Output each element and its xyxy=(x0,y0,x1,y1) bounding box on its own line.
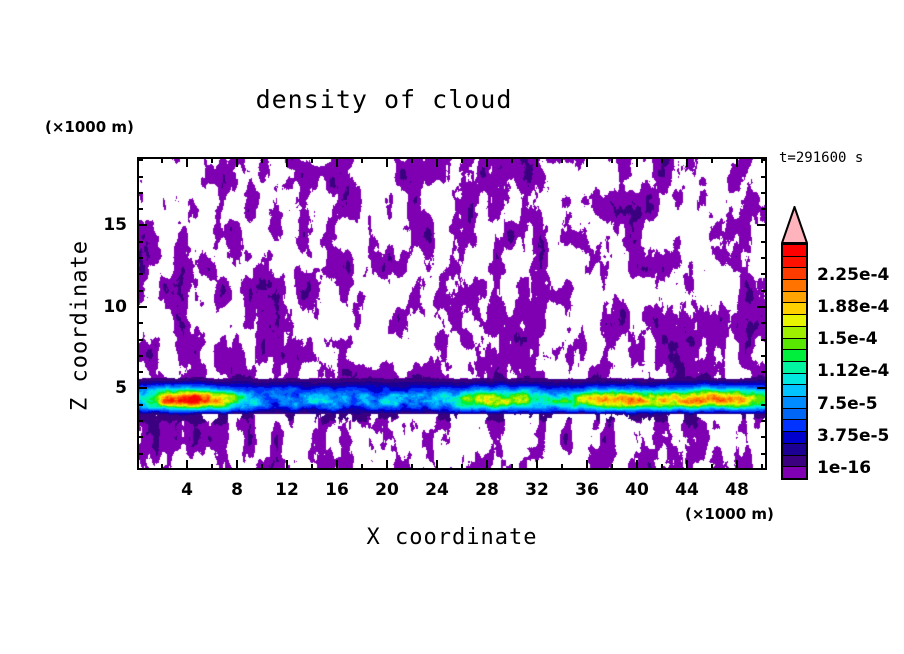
x-tick-mark-top xyxy=(536,157,538,167)
colorbar-tick-label: 1e-16 xyxy=(817,458,871,478)
x-tick-mark-top xyxy=(711,157,713,163)
colorbar-band xyxy=(783,257,806,269)
colorbar-tick-label: 7.5e-5 xyxy=(817,394,878,414)
y-axis-unit-label: (×1000 m) xyxy=(45,118,134,136)
x-tick-label: 24 xyxy=(425,480,449,500)
colorbar-band xyxy=(783,432,806,444)
colorbar-band xyxy=(783,444,806,456)
x-tick-mark xyxy=(236,460,238,470)
colorbar-tick-label: 1.5e-4 xyxy=(817,329,878,349)
y-tick-mark-right xyxy=(761,420,767,422)
colorbar-band xyxy=(783,268,806,280)
x-tick-mark-top xyxy=(311,157,313,163)
x-tick-label: 20 xyxy=(375,480,399,500)
colorbar-band xyxy=(783,315,806,327)
x-tick-label: 36 xyxy=(575,480,599,500)
colorbar-band xyxy=(783,456,806,468)
x-tick-mark-top xyxy=(561,157,563,163)
x-tick-mark xyxy=(161,464,163,470)
x-tick-mark-top xyxy=(736,157,738,167)
x-tick-mark xyxy=(736,460,738,470)
y-tick-mark-right xyxy=(761,176,767,178)
colorbar-band xyxy=(783,280,806,292)
y-tick-mark-right xyxy=(761,436,767,438)
y-tick-mark xyxy=(137,420,143,422)
page-title: density of cloud xyxy=(0,85,768,114)
x-tick-mark xyxy=(361,464,363,470)
x-tick-mark-top xyxy=(586,157,588,167)
colorbar-band xyxy=(783,339,806,351)
x-tick-mark xyxy=(211,464,213,470)
x-tick-label: 40 xyxy=(625,480,649,500)
colorbar-band xyxy=(783,385,806,397)
colorbar-band xyxy=(783,292,806,304)
y-tick-mark xyxy=(137,208,143,210)
y-tick-mark-right xyxy=(761,339,767,341)
y-tick-mark-right xyxy=(761,355,767,357)
y-tick-mark-right xyxy=(761,371,767,373)
y-tick-mark xyxy=(137,241,143,243)
y-tick-mark-right xyxy=(761,453,767,455)
x-tick-mark-top xyxy=(186,157,188,167)
x-tick-mark-top xyxy=(486,157,488,167)
colorbar-band xyxy=(783,467,806,478)
x-tick-mark-top xyxy=(636,157,638,167)
y-tick-mark-right xyxy=(761,257,767,259)
y-tick-mark-right xyxy=(761,404,767,406)
x-tick-mark xyxy=(311,464,313,470)
y-tick-mark xyxy=(137,290,143,292)
y-tick-mark-right xyxy=(761,290,767,292)
y-tick-mark xyxy=(137,355,143,357)
x-tick-mark xyxy=(586,460,588,470)
y-axis-title: Z coordinate xyxy=(68,216,93,436)
x-tick-label: 48 xyxy=(725,480,749,500)
x-tick-mark-top xyxy=(336,157,338,167)
colorbar-tick-label: 1.88e-4 xyxy=(817,297,889,317)
y-tick-mark-right xyxy=(761,273,767,275)
y-tick-mark xyxy=(137,322,143,324)
x-tick-mark-top xyxy=(161,157,163,163)
y-tick-mark xyxy=(137,387,147,389)
x-tick-mark-top xyxy=(411,157,413,163)
colorbar-tick-label: 2.25e-4 xyxy=(817,265,889,285)
x-tick-mark xyxy=(386,460,388,470)
x-tick-mark xyxy=(486,460,488,470)
x-tick-mark-top xyxy=(611,157,613,163)
y-tick-mark xyxy=(137,339,143,341)
y-tick-mark xyxy=(137,159,143,161)
y-tick-mark xyxy=(137,453,143,455)
x-tick-mark xyxy=(336,460,338,470)
colorbar-band xyxy=(783,245,806,257)
time-stamp-annotation: t=291600 s xyxy=(779,150,863,166)
x-tick-label: 12 xyxy=(275,480,299,500)
x-tick-mark xyxy=(686,460,688,470)
x-tick-mark-top xyxy=(236,157,238,167)
colorbar-band xyxy=(783,409,806,421)
colorbar-tick-label: 1.12e-4 xyxy=(817,361,889,381)
x-tick-mark xyxy=(511,464,513,470)
y-tick-mark xyxy=(137,273,143,275)
x-tick-mark-top xyxy=(286,157,288,167)
colorbar-band xyxy=(783,350,806,362)
x-tick-mark-top xyxy=(261,157,263,163)
x-tick-mark xyxy=(661,464,663,470)
x-tick-mark xyxy=(286,460,288,470)
y-tick-mark-right xyxy=(757,387,767,389)
x-axis-title: X coordinate xyxy=(137,525,767,550)
colorbar-tick-label: 3.75e-5 xyxy=(817,426,889,446)
colorbar-band xyxy=(783,374,806,386)
x-tick-label: 4 xyxy=(181,480,193,500)
x-tick-mark-top xyxy=(511,157,513,163)
x-tick-mark xyxy=(636,460,638,470)
x-tick-label: 28 xyxy=(475,480,499,500)
y-tick-mark-right xyxy=(761,241,767,243)
plot-area[interactable] xyxy=(137,157,767,470)
colorbar[interactable] xyxy=(781,243,808,480)
y-tick-mark xyxy=(137,436,143,438)
y-tick-mark-right xyxy=(761,192,767,194)
colorbar-band xyxy=(783,420,806,432)
x-tick-mark-top xyxy=(661,157,663,163)
x-tick-label: 8 xyxy=(231,480,243,500)
x-tick-mark-top xyxy=(211,157,213,163)
x-tick-mark xyxy=(461,464,463,470)
x-axis-unit-label: (×1000 m) xyxy=(685,505,774,523)
y-tick-mark-right xyxy=(761,208,767,210)
y-tick-mark xyxy=(137,224,147,226)
y-tick-mark-right xyxy=(761,159,767,161)
y-tick-mark xyxy=(137,176,143,178)
y-tick-mark-right xyxy=(757,224,767,226)
colorbar-arrow-cap xyxy=(781,206,808,244)
x-tick-label: 44 xyxy=(675,480,699,500)
y-tick-mark xyxy=(137,306,147,308)
colorbar-band xyxy=(783,362,806,374)
x-tick-mark xyxy=(561,464,563,470)
x-tick-mark xyxy=(536,460,538,470)
y-tick-mark-right xyxy=(761,322,767,324)
x-tick-mark xyxy=(436,460,438,470)
x-tick-mark xyxy=(261,464,263,470)
x-tick-mark-top xyxy=(436,157,438,167)
y-tick-mark xyxy=(137,192,143,194)
y-tick-mark xyxy=(137,371,143,373)
x-tick-mark xyxy=(186,460,188,470)
x-tick-mark-top xyxy=(461,157,463,163)
x-tick-label: 32 xyxy=(525,480,549,500)
x-tick-mark xyxy=(761,464,763,470)
x-tick-mark-top xyxy=(386,157,388,167)
contour-field xyxy=(139,159,765,468)
x-tick-mark-top xyxy=(686,157,688,167)
x-tick-label: 16 xyxy=(325,480,349,500)
x-tick-mark-top xyxy=(361,157,363,163)
y-tick-mark xyxy=(137,404,143,406)
x-tick-mark xyxy=(611,464,613,470)
colorbar-band xyxy=(783,397,806,409)
y-tick-mark xyxy=(137,257,143,259)
y-tick-mark-right xyxy=(757,306,767,308)
colorbar-band xyxy=(783,303,806,315)
x-tick-mark xyxy=(711,464,713,470)
x-tick-mark xyxy=(411,464,413,470)
colorbar-band xyxy=(783,327,806,339)
